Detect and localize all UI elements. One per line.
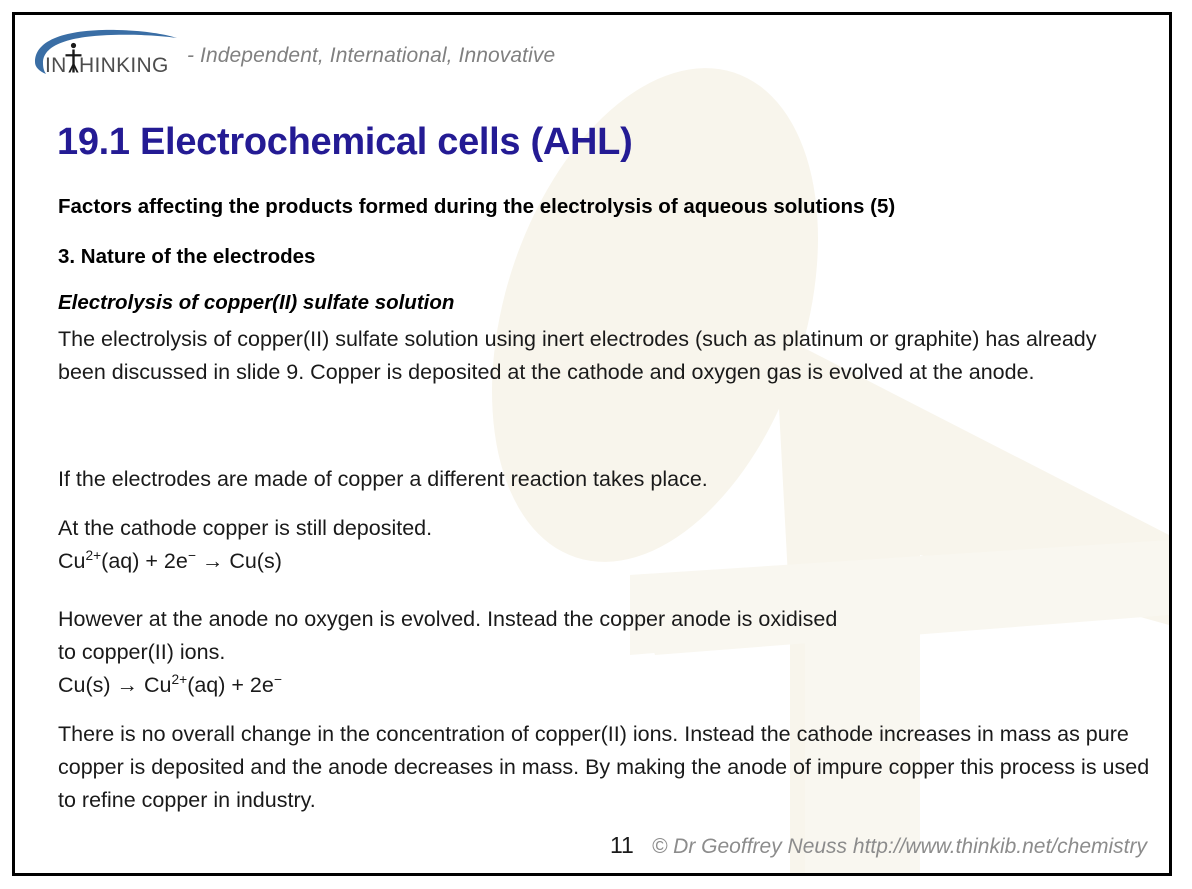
eq2-electron-charge: − — [274, 672, 282, 687]
cathode-block: At the cathode copper is still deposited… — [58, 512, 1150, 578]
paragraph-refining: There is no overall change in the concen… — [58, 718, 1150, 817]
paragraph-copper-electrodes-block: If the electrodes are made of copper a d… — [58, 463, 1150, 496]
equation-anode-oxidation: Cu(s) → Cu2+(aq) + 2e− — [58, 669, 1150, 702]
paragraph-refining-block: There is no overall change in the concen… — [58, 718, 1150, 817]
paragraph-inert-electrodes-block: The electrolysis of copper(II) sulfate s… — [58, 323, 1150, 389]
paragraph-anode-line2: to copper(II) ions. — [58, 636, 1150, 669]
eq1-electron-charge: − — [188, 548, 196, 563]
subheading-factors: Factors affecting the products formed du… — [58, 195, 895, 219]
eq2-arrow: → — [111, 673, 144, 697]
eq1-reactant-symbol: Cu — [58, 549, 85, 573]
page-number: 11 — [610, 832, 634, 859]
slide-frame: IN HINKING - Independent, International,… — [12, 12, 1172, 876]
logo-wordmark-part1: IN — [45, 54, 67, 77]
brand-header: IN HINKING - Independent, International,… — [31, 25, 555, 87]
anode-block: However at the anode no oxygen is evolve… — [58, 603, 1150, 702]
heading-electrolysis-copper-sulfate: Electrolysis of copper(II) sulfate solut… — [58, 291, 454, 315]
slide-footer: 11 © Dr Geoffrey Neuss http://www.thinki… — [15, 832, 1169, 859]
copyright-notice: © Dr Geoffrey Neuss http://www.thinkib.n… — [652, 835, 1147, 859]
paragraph-inert-electrodes: The electrolysis of copper(II) sulfate s… — [58, 323, 1150, 389]
eq1-product: Cu(s) — [229, 549, 282, 573]
equation-cathode-reduction: Cu2+(aq) + 2e− → Cu(s) — [58, 545, 1150, 578]
eq2-reactant: Cu(s) — [58, 673, 111, 697]
eq2-product-symbol: Cu — [144, 673, 171, 697]
paragraph-anode-line1: However at the anode no oxygen is evolve… — [58, 603, 1150, 636]
subheading-nature-of-electrodes: 3. Nature of the electrodes — [58, 245, 315, 269]
slide-canvas: IN HINKING - Independent, International,… — [0, 0, 1192, 889]
slide-content: IN HINKING - Independent, International,… — [15, 15, 1169, 873]
page-title: 19.1 Electrochemical cells (AHL) — [57, 121, 632, 164]
logo-wordmark-part2: HINKING — [79, 54, 169, 77]
paragraph-copper-electrodes: If the electrodes are made of copper a d… — [58, 463, 1150, 496]
inthinking-logo: IN HINKING — [31, 28, 179, 84]
brand-tagline: - Independent, International, Innovative — [187, 44, 555, 68]
eq2-product-state: (aq) + 2e — [187, 673, 274, 697]
eq1-arrow: → — [196, 549, 229, 573]
eq1-reactant-charge: 2+ — [85, 548, 101, 563]
paragraph-cathode: At the cathode copper is still deposited… — [58, 512, 1150, 545]
eq2-product-charge: 2+ — [172, 672, 188, 687]
eq1-reactant-state: (aq) + 2e — [101, 549, 188, 573]
